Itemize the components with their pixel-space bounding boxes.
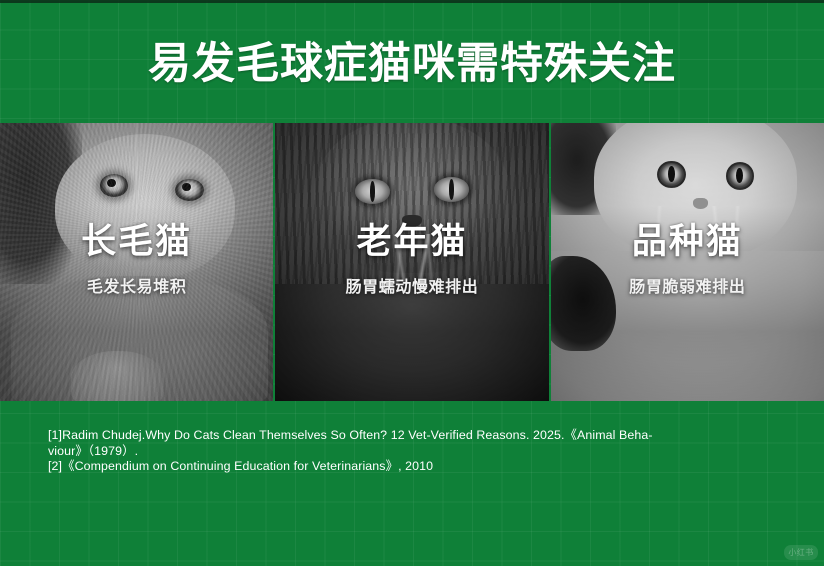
panel-text-block: 老年猫 肠胃蠕动慢难排出	[275, 123, 548, 401]
slide-canvas: 易发毛球症猫咪需特殊关注 长毛猫 毛发长易堆积	[0, 0, 824, 566]
panel-long-haired-cat[interactable]: 长毛猫 毛发长易堆积	[0, 123, 273, 401]
title-bar: 易发毛球症猫咪需特殊关注	[0, 34, 824, 94]
panel-subtitle: 肠胃蠕动慢难排出	[346, 279, 479, 297]
panel-row: 长毛猫 毛发长易堆积 老年猫 肠胃蠕动慢难排出	[0, 123, 824, 401]
panel-heading: 品种猫	[632, 223, 743, 260]
panel-subtitle: 毛发长易堆积	[87, 279, 187, 297]
panel-text-block: 品种猫 肠胃脆弱难排出	[551, 123, 824, 401]
footnote-line-3: [2]《Compendium on Continuing Education f…	[48, 459, 784, 475]
panel-pedigree-cat[interactable]: 品种猫 肠胃脆弱难排出	[551, 123, 824, 401]
page-title: 易发毛球症猫咪需特殊关注	[148, 43, 676, 86]
panel-text-block: 长毛猫 毛发长易堆积	[0, 123, 273, 401]
panel-subtitle: 肠胃脆弱难排出	[629, 279, 745, 297]
panel-heading: 老年猫	[356, 223, 467, 260]
footnote-line-2: viour》（1979）.	[48, 444, 784, 460]
panel-heading: 长毛猫	[81, 223, 192, 260]
reference-footnotes: [1]Radim Chudej.Why Do Cats Clean Themse…	[48, 428, 784, 475]
panel-senior-cat[interactable]: 老年猫 肠胃蠕动慢难排出	[275, 123, 548, 401]
footnote-line-1: [1]Radim Chudej.Why Do Cats Clean Themse…	[48, 428, 784, 444]
watermark-badge: 小红书	[784, 545, 818, 560]
top-edge-strip	[0, 0, 824, 3]
